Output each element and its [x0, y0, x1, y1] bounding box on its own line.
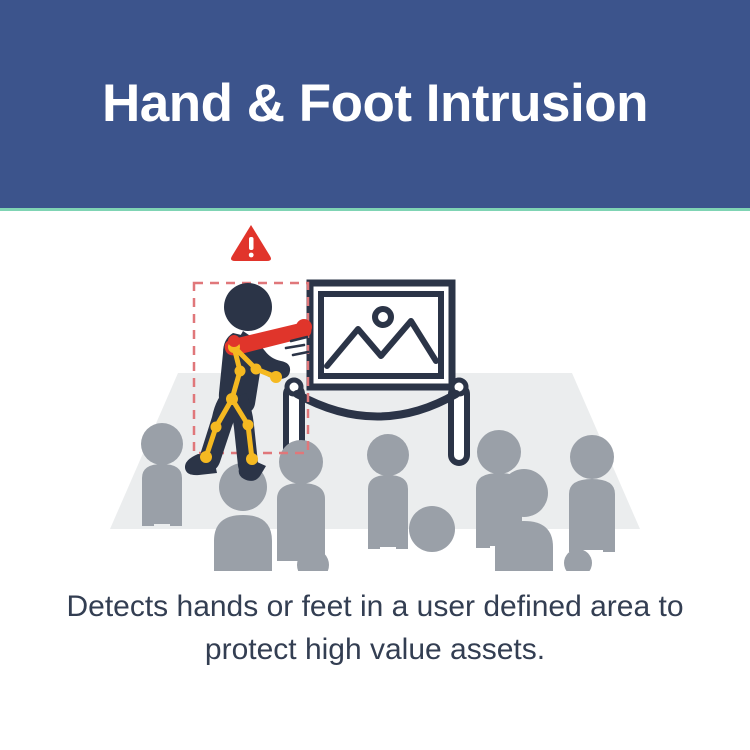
crowd-person — [277, 440, 325, 561]
crowd-person — [409, 506, 455, 552]
crowd-person — [141, 423, 183, 526]
protected-artwork-frame — [310, 283, 452, 387]
page-title: Hand & Foot Intrusion — [102, 76, 648, 132]
caption-container: Detects hands or feet in a user defined … — [0, 586, 750, 671]
warning-triangle-icon — [231, 225, 271, 261]
crowd-person — [367, 434, 409, 549]
caption-text: Detects hands or feet in a user defined … — [65, 586, 685, 671]
crowd-person — [564, 549, 592, 571]
alert-joint — [228, 335, 240, 347]
crowd-person — [569, 435, 615, 552]
card-header: Hand & Foot Intrusion — [0, 0, 750, 208]
illustration-stage — [0, 211, 750, 571]
feature-card: Hand & Foot Intrusion — [0, 0, 750, 750]
